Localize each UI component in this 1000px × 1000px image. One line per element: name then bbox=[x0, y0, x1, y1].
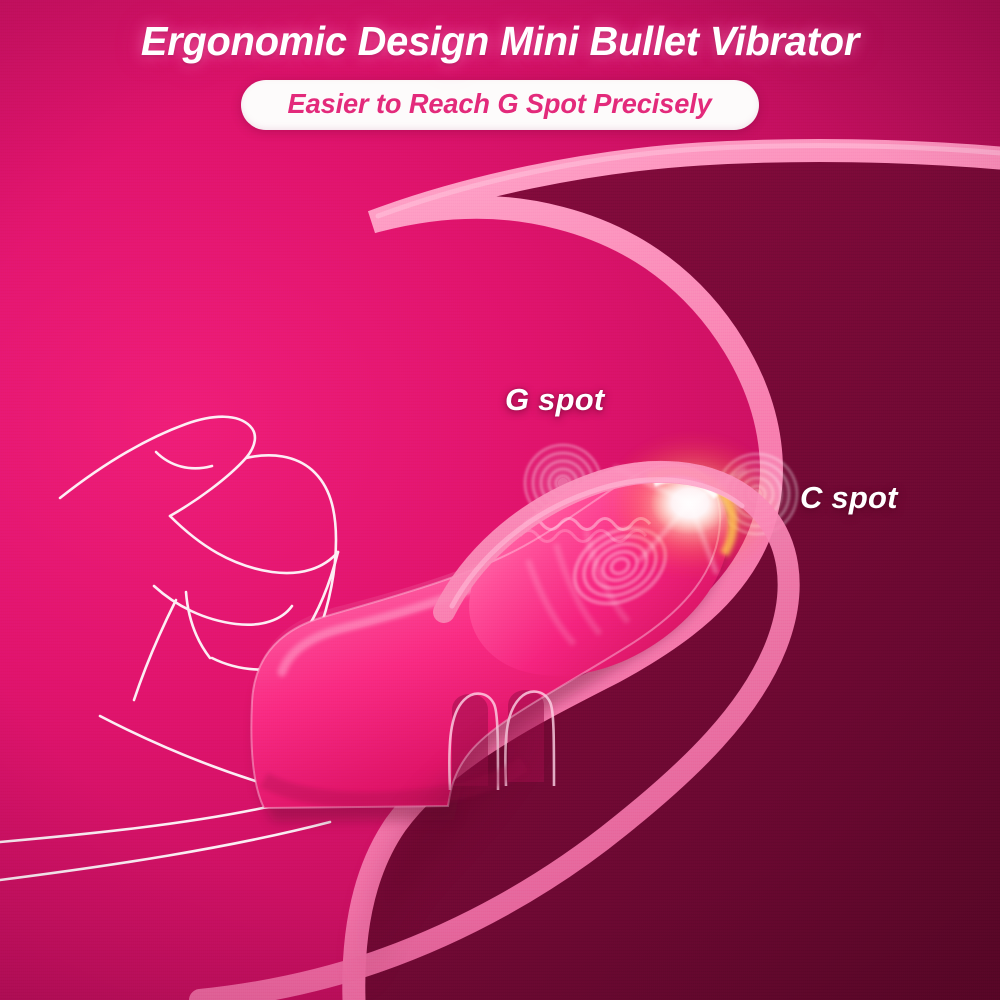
c-spot-label: C spot bbox=[800, 480, 898, 516]
product-banner: Ergonomic Design Mini Bullet Vibrator Ea… bbox=[0, 0, 1000, 1000]
page-title: Ergonomic Design Mini Bullet Vibrator bbox=[15, 18, 985, 66]
g-spot-label: G spot bbox=[505, 382, 604, 418]
subtitle-pill: Easier to Reach G Spot Precisely bbox=[241, 80, 758, 131]
subtitle-pill-wrapper: Easier to Reach G Spot Precisely bbox=[0, 80, 1000, 131]
header: Ergonomic Design Mini Bullet Vibrator Ea… bbox=[0, 0, 1000, 130]
subtitle-text: Easier to Reach G Spot Precisely bbox=[288, 89, 712, 120]
